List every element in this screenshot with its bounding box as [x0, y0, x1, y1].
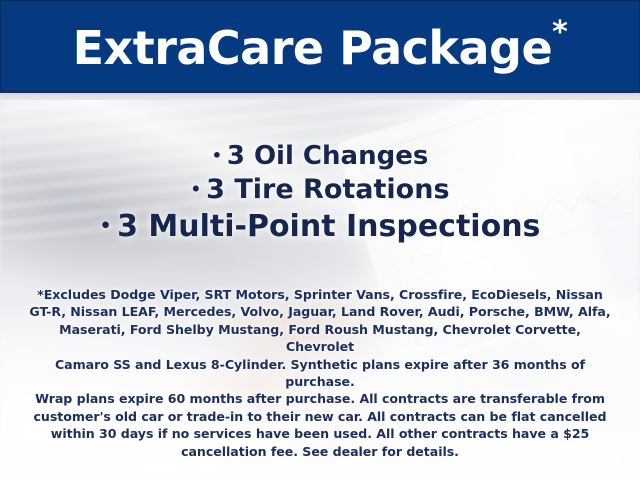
bullet-icon: •: [190, 179, 201, 200]
bullet-icon: •: [100, 215, 112, 239]
page-title-asterisk: *: [552, 15, 567, 50]
disclaimer-line: Wrap plans expire 60 months after purcha…: [26, 390, 614, 407]
bullet-icon: •: [212, 146, 222, 167]
benefit-label: 3 Oil Changes: [227, 141, 429, 171]
header-banner: ExtraCare Package*: [0, 0, 640, 90]
list-item: •3 Multi-Point Inspections: [0, 208, 640, 246]
disclaimer-text: *Excludes Dodge Viper, SRT Motors, Sprin…: [26, 286, 614, 460]
disclaimer-line: Camaro SS and Lexus 8-Cylinder. Syntheti…: [26, 356, 614, 391]
benefit-label: 3 Tire Rotations: [206, 174, 449, 205]
benefits-list: •3 Oil Changes •3 Tire Rotations •3 Mult…: [0, 140, 640, 246]
disclaimer-line: Maserati, Ford Shelby Mustang, Ford Rous…: [26, 321, 614, 356]
list-item: •3 Tire Rotations: [0, 173, 640, 208]
disclaimer-line: GT-R, Nissan LEAF, Mercedes, Volvo, Jagu…: [26, 303, 614, 320]
benefit-label: 3 Multi-Point Inspections: [117, 209, 540, 244]
disclaimer-line: cancellation fee. See dealer for details…: [26, 443, 614, 460]
extracare-package-ad: ExtraCare Package* •3 Oil Changes •3 Tir…: [0, 0, 640, 480]
page-title: ExtraCare Package*: [73, 18, 568, 71]
page-title-text: ExtraCare Package: [73, 21, 553, 75]
disclaimer-line: customer's old car or trade-in to their …: [26, 408, 614, 425]
header-shadow-band: [0, 93, 640, 100]
list-item: •3 Oil Changes: [0, 140, 640, 173]
disclaimer-line: *Excludes Dodge Viper, SRT Motors, Sprin…: [26, 286, 614, 303]
disclaimer-line: within 30 days if no services have been …: [26, 425, 614, 442]
